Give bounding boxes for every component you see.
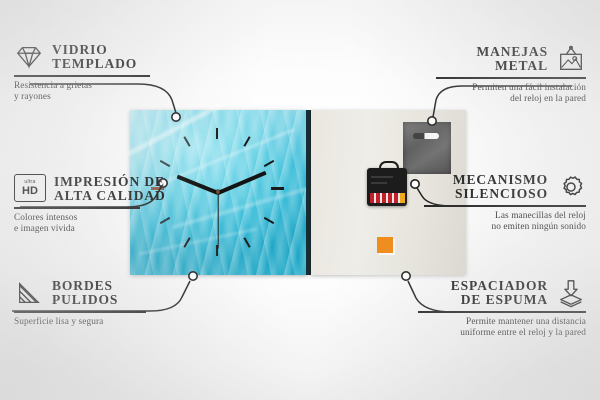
callout-title-line1: VIDRIO	[52, 43, 137, 58]
callout-desc-line1: Resistencia a grietas	[14, 81, 164, 92]
callout-rule	[14, 75, 150, 77]
clock-tick	[160, 160, 171, 167]
callout-desc-line1: Permiten una fácil instalación	[436, 83, 586, 94]
callout-title-line1: ESPACIADOR	[451, 279, 548, 294]
callout-title-line1: BORDES	[52, 279, 118, 294]
clock-tick	[243, 237, 250, 248]
callout-desc-line2: e imagen vívida	[14, 224, 174, 235]
clock-tick	[264, 160, 275, 167]
clock-battery	[370, 193, 404, 203]
clock-tick	[183, 237, 190, 248]
callout-rule	[424, 205, 586, 207]
mechanism-hanging-loop	[379, 161, 399, 173]
callout-vidrio-templado: VIDRIO TEMPLADO Resistencia a grietas y …	[14, 42, 164, 103]
callout-title-line2: DE ESPUMA	[451, 293, 548, 308]
callout-desc-line1: Las manecillas del reloj	[424, 211, 586, 222]
clock-tick	[183, 136, 190, 147]
battery-terminal	[400, 193, 405, 203]
picture-frame-icon	[556, 44, 586, 74]
callout-rule	[418, 311, 586, 313]
ultra-hd-icon: ultra HD	[14, 174, 46, 204]
callout-title-line1: IMPRESIÓN DE	[54, 175, 166, 190]
callout-desc-line2: uniforme entre el reloj y la pared	[418, 328, 586, 339]
callout-impresion-alta-calidad: ultra HD IMPRESIÓN DE ALTA CALIDAD Color…	[14, 174, 174, 235]
diamond-icon	[14, 42, 44, 72]
mechanism-detail	[371, 176, 393, 178]
callout-bordes-pulidos: BORDES PULIDOS Superficie lisa y segura	[14, 278, 164, 328]
callout-mecanismo-silencioso: MECANISMO SILENCIOSO Las manecillas del …	[424, 172, 586, 233]
callout-title-line2: ALTA CALIDAD	[54, 189, 166, 204]
product-image	[130, 110, 466, 276]
clock-tick	[271, 187, 284, 190]
mechanism-detail	[371, 182, 387, 184]
callout-rule	[436, 77, 586, 79]
clock-tick	[243, 136, 250, 147]
callout-title-line2: SILENCIOSO	[453, 187, 548, 202]
callout-desc-line2: y rayones	[14, 92, 164, 103]
callout-manejas-metal: MANEJAS METAL Permiten una fácil instala…	[436, 44, 586, 105]
callout-title-line2: TEMPLADO	[52, 57, 137, 72]
clock-second-hand	[217, 192, 218, 248]
hd-icon-top-text: ultra	[24, 180, 35, 185]
callout-rule	[14, 207, 140, 209]
callout-espaciador-espuma: ESPACIADOR DE ESPUMA Permite mantener un…	[418, 278, 586, 339]
foam-spacer-pad	[377, 237, 393, 253]
callout-title-line2: PULIDOS	[52, 293, 118, 308]
callout-desc-line2: no emiten ningún sonido	[424, 222, 586, 233]
clock-hour-hand	[176, 175, 218, 195]
callout-desc-line1: Superficie lisa y segura	[14, 317, 164, 328]
clock-tick	[216, 128, 218, 139]
infographic-canvas: VIDRIO TEMPLADO Resistencia a grietas y …	[0, 0, 600, 400]
clock-minute-hand	[217, 171, 266, 195]
callout-desc-line2: del reloj en la pared	[436, 94, 586, 105]
metal-hanger-plate	[403, 122, 451, 174]
callout-title-line2: METAL	[476, 59, 548, 74]
hanger-slot	[413, 133, 439, 139]
clock-tick	[264, 217, 275, 224]
callout-rule	[14, 311, 146, 313]
callout-desc-line1: Permite mantener una distancia	[418, 317, 586, 328]
clock-mechanism	[367, 168, 407, 206]
gear-icon	[556, 172, 586, 202]
clock-center-pin	[216, 190, 220, 194]
foam-spacer-icon	[556, 278, 586, 308]
callout-title-line1: MANEJAS	[476, 45, 548, 60]
polished-edges-icon	[14, 278, 44, 308]
hd-icon-main-text: HD	[22, 186, 38, 197]
callout-title-line1: MECANISMO	[453, 173, 548, 188]
callout-desc-line1: Colores intensos	[14, 213, 174, 224]
